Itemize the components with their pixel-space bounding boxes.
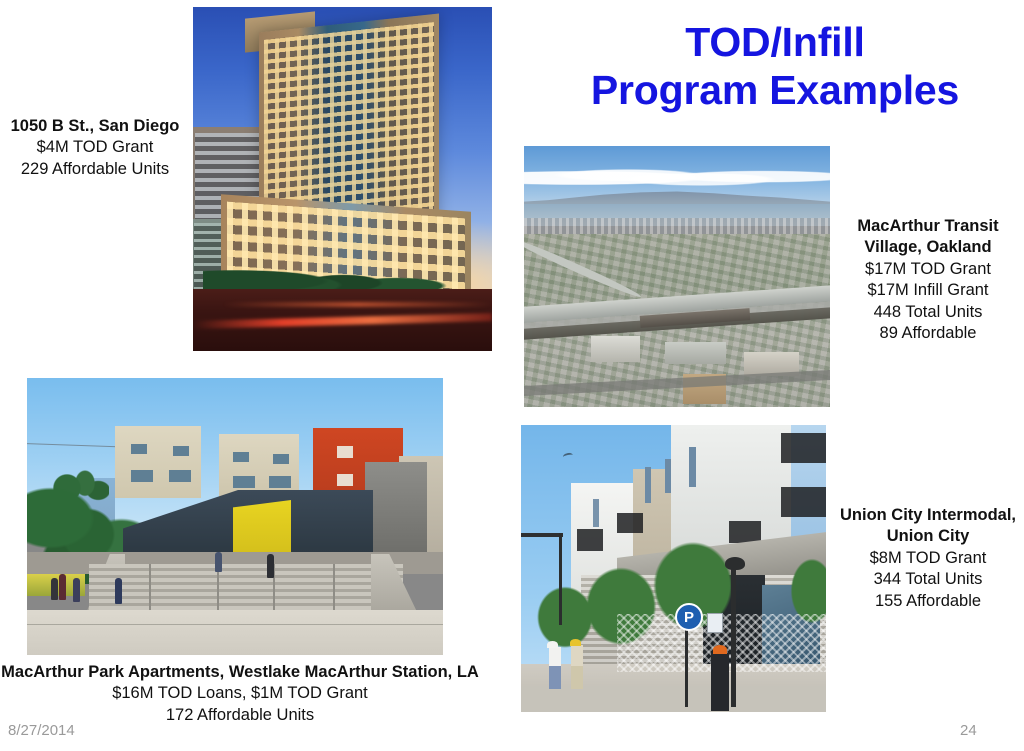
- footer-date: 8/27/2014: [8, 722, 75, 739]
- sign-post: [685, 623, 688, 707]
- window: [233, 452, 249, 462]
- caption-line: 155 Affordable: [832, 591, 1024, 612]
- pedestrian-dark-clothing: [711, 653, 729, 711]
- photo-1050-b-street-san-diego: [193, 7, 492, 351]
- clouds: [524, 164, 830, 192]
- window: [131, 444, 147, 454]
- slide-canvas: TOD/Infill Program Examples 1050 B St., …: [0, 0, 1024, 751]
- stair-handrail: [149, 564, 151, 616]
- sidewalk: [521, 686, 826, 712]
- caption-line: $17M Infill Grant: [834, 280, 1022, 301]
- caption-heading: MacArthur Park Apartments, Westlake MacA…: [0, 662, 480, 683]
- window: [173, 446, 189, 456]
- window-slot: [665, 459, 671, 493]
- plaza-stairs: [89, 564, 403, 614]
- caption-heading: Village, Oakland: [834, 237, 1022, 258]
- title-line-2: Program Examples: [540, 66, 1010, 114]
- lamp-post: [731, 567, 736, 707]
- pedestrian: [73, 578, 80, 602]
- window: [273, 454, 289, 464]
- balcony: [577, 529, 603, 551]
- pedestrian: [59, 574, 66, 600]
- window: [337, 446, 353, 458]
- light-trail-secondary: [223, 302, 492, 307]
- page-title: TOD/Infill Program Examples: [540, 18, 1010, 115]
- caption-line: 344 Total Units: [832, 569, 1024, 590]
- photo-macarthur-transit-village-oakland: [524, 146, 830, 407]
- building-low-rise: [665, 342, 726, 364]
- caption-line: 89 Affordable: [834, 323, 1022, 344]
- plaza-paving: [27, 610, 443, 655]
- caption-heading: 1050 B St., San Diego: [0, 116, 190, 137]
- caption-heading: MacArthur Transit: [834, 216, 1022, 237]
- window-slot: [593, 499, 599, 527]
- photo-union-city-intermodal: P: [521, 425, 826, 712]
- window-slot: [689, 447, 696, 487]
- hard-hat-orange: [713, 645, 727, 654]
- building-parking-structure: [591, 336, 640, 362]
- caption-san-diego: 1050 B St., San Diego $4M TOD Grant 229 …: [0, 116, 190, 180]
- window-slot: [645, 467, 651, 503]
- caption-line: $4M TOD Grant: [0, 137, 190, 158]
- caption-oakland: MacArthur Transit Village, Oakland $17M …: [834, 216, 1022, 345]
- window: [269, 476, 291, 488]
- pedestrian: [115, 578, 122, 604]
- gray-building-right: [365, 462, 427, 552]
- balcony: [617, 513, 643, 533]
- caption-los-angeles: MacArthur Park Apartments, Westlake MacA…: [0, 662, 480, 726]
- hard-hat-white: [547, 641, 558, 648]
- stair-handrail: [333, 564, 335, 616]
- balcony: [781, 487, 826, 517]
- pedestrian-hardhat-white: [549, 647, 561, 689]
- pedestrian-hardhat-yellow: [571, 645, 583, 689]
- window: [233, 476, 255, 488]
- street-light-pole: [559, 533, 562, 625]
- parking-sign: P: [675, 603, 703, 631]
- lamp-head: [725, 557, 745, 570]
- balcony: [781, 433, 826, 463]
- caption-union-city: Union City Intermodal, Union City $8M TO…: [832, 505, 1024, 612]
- caption-heading: Union City Intermodal,: [832, 505, 1024, 526]
- hard-hat-yellow: [570, 639, 581, 646]
- caption-line: 448 Total Units: [834, 302, 1022, 323]
- window: [337, 474, 353, 486]
- photo-macarthur-park-apartments-la: [27, 378, 443, 655]
- caption-line: $16M TOD Loans, $1M TOD Grant: [0, 683, 480, 704]
- pedestrian: [215, 552, 222, 572]
- title-line-1: TOD/Infill: [685, 19, 864, 65]
- pedestrian: [51, 578, 58, 600]
- caption-line: 229 Affordable Units: [0, 159, 190, 180]
- footer-page-number: 24: [960, 722, 977, 739]
- caption-heading: Union City: [832, 526, 1024, 547]
- caption-line: $8M TOD Grant: [832, 548, 1024, 569]
- transit-info-sign: [707, 613, 723, 633]
- street-light-arm: [521, 533, 563, 537]
- pedestrian: [267, 554, 274, 578]
- window: [169, 470, 191, 482]
- caption-line: $17M TOD Grant: [834, 259, 1022, 280]
- street-trees: [203, 253, 473, 293]
